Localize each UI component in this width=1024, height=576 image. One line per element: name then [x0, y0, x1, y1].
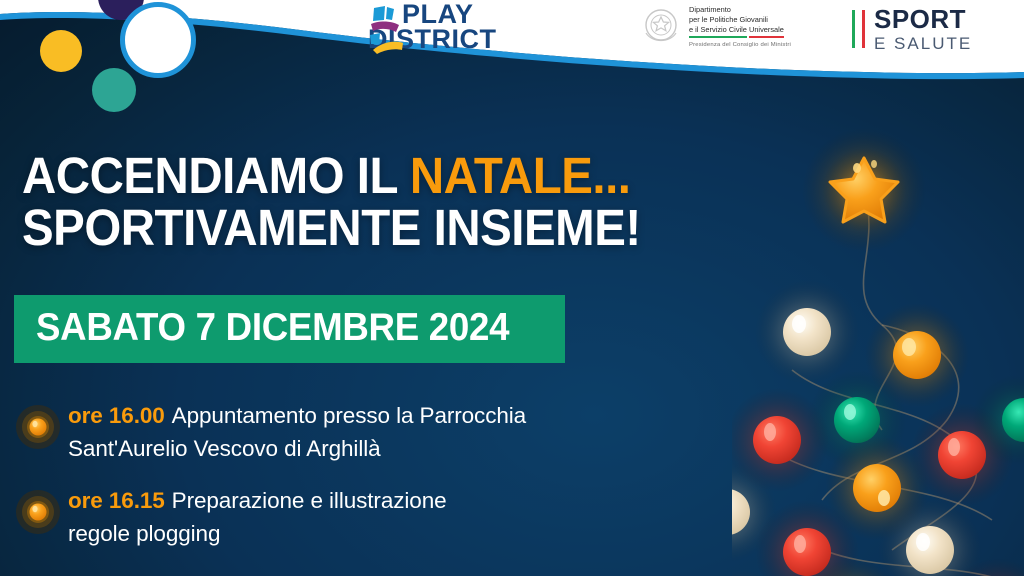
gov-subline: Presidenza del Consiglio dei Ministri: [689, 41, 791, 49]
play-district-logo: PLAY DISTRICT: [368, 2, 497, 52]
play-district-mark-icon: [368, 6, 404, 54]
gov-line3b: Universale: [749, 25, 784, 38]
sport-line2: E SALUTE: [874, 35, 972, 52]
sport-e-salute-logo: SPORT E SALUTE: [852, 6, 972, 52]
date-banner-text: SABATO 7 DICEMBRE 2024: [36, 306, 509, 350]
schedule-item-line2: regole plogging: [68, 518, 752, 551]
schedule-item-line1: ore 16.00Appuntamento presso la Parrocch…: [68, 400, 752, 433]
deco-circle-teal: [92, 68, 136, 112]
gov-line1: Dipartimento: [689, 5, 791, 15]
sport-line1: SPORT: [874, 6, 972, 32]
government-logo: Dipartimento per le Politiche Giovanili …: [640, 3, 791, 49]
schedule-item-text1: Appuntamento presso la Parrocchia: [172, 403, 526, 428]
christmas-lights-tree: [732, 120, 1024, 576]
logo-row: PLAY DISTRICT Dipartimento per le Politi…: [0, 0, 1024, 66]
poster-canvas: PLAY DISTRICT Dipartimento per le Politi…: [0, 0, 1024, 576]
date-banner: SABATO 7 DICEMBRE 2024: [14, 295, 565, 363]
schedule-item-line2: Sant'Aurelio Vescovo di Arghillà: [68, 433, 752, 466]
christmas-bauble-icon: [16, 405, 60, 449]
italian-flag-icon: [852, 10, 865, 48]
republic-emblem-icon: [640, 3, 682, 49]
poster-headline: ACCENDIAMO IL NATALE... SPORTIVAMENTE IN…: [22, 150, 729, 254]
schedule-item-line1: ore 16.15Preparazione e illustrazione: [68, 485, 752, 518]
government-logo-text: Dipartimento per le Politiche Giovanili …: [689, 3, 791, 49]
schedule-item: ore 16.00Appuntamento presso la Parrocch…: [12, 400, 752, 465]
schedule-item-text1: Preparazione e illustrazione: [172, 488, 447, 513]
headline-line1-orange: NATALE...: [410, 147, 631, 204]
schedule-item: ore 16.15Preparazione e illustrazione re…: [12, 485, 752, 550]
christmas-bauble-icon: [16, 490, 60, 534]
gov-line3a: e il Servizio Civile: [689, 25, 747, 38]
sport-e-salute-wordmark: SPORT E SALUTE: [874, 6, 972, 52]
headline-line2: SPORTIVAMENTE INSIEME!: [22, 202, 729, 254]
schedule-item-time: ore 16.15: [68, 488, 165, 513]
schedule-item-time: ore 16.00: [68, 403, 165, 428]
schedule-list: ore 16.00Appuntamento presso la Parrocch…: [12, 400, 752, 571]
gov-line2: per le Politiche Giovanili: [689, 15, 791, 25]
headline-line1-white: ACCENDIAMO IL: [22, 147, 410, 204]
